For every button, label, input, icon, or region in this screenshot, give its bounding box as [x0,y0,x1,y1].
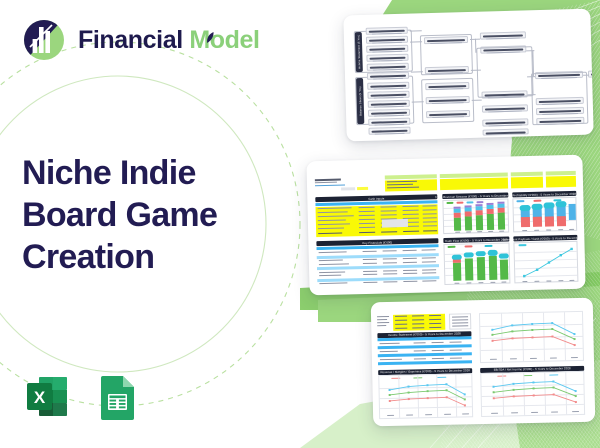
marker-pill [488,250,498,256]
legend-swatch [466,201,473,203]
node-revenue-2 [425,66,469,74]
file-format-icons: X [22,372,142,422]
node-corporate-taxes [367,72,409,80]
merged-cell [382,219,408,228]
rail-balance-sheet: Balance Sheet (5 Yrs) [356,78,364,124]
statement-input-rows [394,315,444,331]
marker-pill [464,252,474,258]
legend-swatch [446,202,453,204]
legend-swatch [465,245,473,247]
investment-payback-line[interactable] [513,240,578,283]
page-title-line3: Creation [22,236,282,278]
node-operating-expenses [366,45,408,53]
node-non-current-liabilities [368,118,410,126]
assumption-inputs-4[interactable] [546,175,576,187]
legend-swatch [485,245,493,247]
chart-series-lines [480,312,585,364]
col2-group-2 [421,78,474,123]
microsoft-excel-icon[interactable]: X [22,372,72,422]
statements-content: Income Statement (€'000) - 5 Years to De… [371,298,596,427]
node-revenue [366,27,408,35]
legend-swatch [516,200,524,202]
connector [475,39,476,53]
cash-flow-bar[interactable] [443,242,510,285]
payback-line-series [514,241,579,284]
dashboard-card[interactable]: Cash Inputs Key Financials (€'000) [306,155,585,296]
key-financials-rows [317,247,440,288]
toggle-cell[interactable] [341,187,355,191]
node-current-liabilities [368,109,410,117]
col4-group [531,72,588,126]
page-title-line1: Niche Indie [22,152,282,194]
google-sheets-icon[interactable] [92,372,142,422]
input-cell[interactable] [357,187,368,191]
slide-canvas: Financial Model Niche Indie Board Game C… [0,0,600,448]
statements-chart-bottom-left[interactable] [378,373,473,419]
marker-pill [555,201,566,207]
statements-chart-bottom-right[interactable] [480,371,585,417]
node-depreciation [366,54,408,62]
marker-pill [476,251,486,257]
dupont-analysis-card[interactable]: Income Statement (5 Yrs) Balance Sheet (… [343,9,593,142]
statement-side-cells [449,313,471,329]
node-cogs [366,36,408,44]
brand-name-part2: Model [189,26,259,54]
brand-logo: Financial Model [22,18,260,62]
marker-pill [499,253,509,259]
connector [410,30,422,31]
leaf-accent-icon [206,32,215,45]
revenue-streams-stacked-bar[interactable] [442,198,509,234]
node-equity [368,127,410,135]
legend-swatch [476,201,483,203]
node-current-assets [367,91,409,99]
brand-name-part1: Financial [78,26,183,54]
node-interest-expense [367,63,409,71]
marker-pill [520,204,531,210]
statement-table-rows [377,336,472,366]
col3-group [476,46,533,98]
node-gross-margin [480,31,526,39]
node-accounts-receivable [367,82,409,90]
marker-pill [531,203,542,209]
assumption-rows [386,179,436,190]
legend-swatch [533,200,541,202]
connector [532,50,533,76]
node-shareholders-equity [483,128,529,135]
cash-inputs-rows [317,204,438,236]
marker-pill [543,202,554,208]
financial-statements-card[interactable]: Income Statement (€'000) - 5 Years to De… [371,298,596,427]
assumption-inputs-3[interactable] [511,176,543,188]
node-total-liab-equity [482,118,528,126]
page-title-line2: Board Game [22,194,282,236]
brand-wordmark: Financial Model [78,26,260,55]
node-net-income [424,36,468,44]
profitability-waterfall[interactable] [512,196,577,232]
rail-income-statement: Income Statement (5 Yrs) [355,32,363,72]
dupont-diagram: Income Statement (5 Yrs) Balance Sheet (… [343,9,593,142]
dashboard-content: Cash Inputs Key Financials (€'000) [306,155,585,296]
statements-chart-top-right[interactable] [479,311,584,363]
node-ar-turnover [482,104,528,112]
legend-swatch [456,202,463,204]
excel-x-glyph: X [34,388,46,407]
connector [472,100,482,101]
pie-chart-leaf-logo-icon [22,18,66,62]
marker-pill [452,254,462,260]
page-title: Niche Indie Board Game Creation [22,152,282,278]
legend-swatch [448,246,456,248]
node-non-current-assets [368,100,410,108]
assumption-inputs-2[interactable] [440,177,508,190]
table-row-labels [377,316,391,330]
connector [526,50,534,51]
